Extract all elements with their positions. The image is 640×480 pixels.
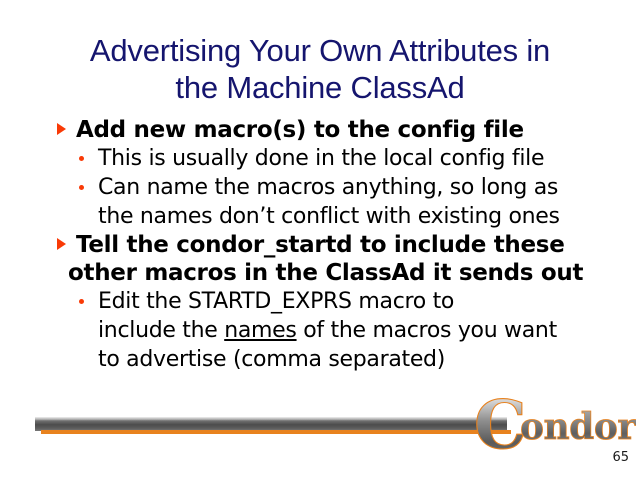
bullet-text-before: include the bbox=[98, 318, 224, 343]
footer-beam bbox=[35, 417, 507, 431]
bullet-level2-continuation: the names don’t conflict with existing o… bbox=[0, 202, 640, 231]
bullet-text: the names don’t conflict with existing o… bbox=[98, 204, 560, 229]
bullet-text: This is usually done in the local config… bbox=[98, 146, 544, 171]
bullet-level1: Add new macro(s) to the config file bbox=[0, 116, 640, 144]
bullet-level1: Tell the condor_startd to include these bbox=[0, 231, 640, 259]
bullet-level1-continuation: other macros in the ClassAd it sends out bbox=[0, 259, 640, 287]
footer-beam-accent bbox=[41, 430, 511, 434]
bullet-text: to advertise (comma separated) bbox=[98, 347, 445, 372]
page-number: 65 bbox=[612, 450, 629, 465]
bullet-level2-continuation: include the names of the macros you want bbox=[0, 316, 640, 345]
bullet-text: Tell the condor_startd to include these bbox=[76, 232, 565, 258]
condor-logo: C ondor bbox=[476, 392, 636, 458]
bullet-text: other macros in the ClassAd it sends out bbox=[68, 260, 583, 286]
svg-text:C: C bbox=[476, 392, 527, 458]
page-title: Advertising Your Own Attributes in the M… bbox=[24, 32, 616, 106]
bullet-text: Add new macro(s) to the config file bbox=[76, 117, 524, 143]
bullet-level2-continuation: to advertise (comma separated) bbox=[0, 345, 640, 374]
triangle-bullet-icon bbox=[57, 238, 66, 250]
bullet-text-underlined: names bbox=[224, 318, 296, 343]
bullet-level2: Edit the STARTD_EXPRS macro to bbox=[0, 287, 640, 316]
slide-canvas: Advertising Your Own Attributes in the M… bbox=[0, 0, 640, 480]
dot-bullet-icon bbox=[79, 185, 84, 190]
bullet-list: Add new macro(s) to the config file This… bbox=[0, 116, 640, 374]
dot-bullet-icon bbox=[79, 156, 84, 161]
bullet-text: Can name the macros anything, so long as bbox=[98, 175, 558, 200]
triangle-bullet-icon bbox=[57, 123, 66, 135]
dot-bullet-icon bbox=[79, 299, 84, 304]
bullet-text: Edit the STARTD_EXPRS macro to bbox=[98, 289, 454, 314]
bullet-level2: This is usually done in the local config… bbox=[0, 144, 640, 173]
bullet-text-after: of the macros you want bbox=[297, 318, 557, 343]
svg-text:ondor: ondor bbox=[520, 406, 636, 448]
bullet-level2: Can name the macros anything, so long as bbox=[0, 173, 640, 202]
